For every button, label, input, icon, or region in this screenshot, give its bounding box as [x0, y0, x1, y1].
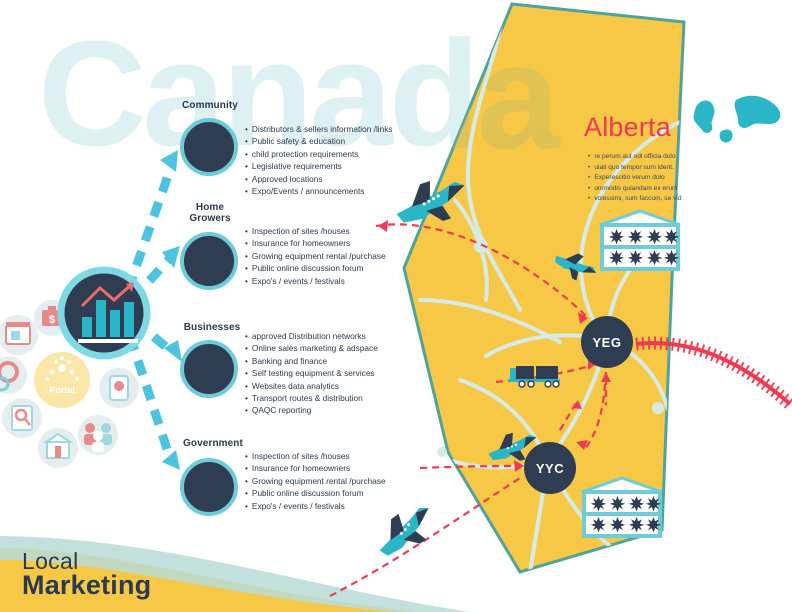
- bank-institution-icon: [38, 428, 78, 468]
- portal-badge[interactable]: [34, 352, 90, 408]
- connector-arrowheads: [160, 150, 182, 470]
- spoke-title-community: Community: [170, 100, 250, 111]
- bullet-item: child protection requirements: [245, 148, 393, 160]
- spoke-bullets-businesses: approved Distribution networks Online sa…: [245, 330, 378, 417]
- bullet-item: QAQC reporting: [245, 404, 378, 416]
- bullet-item: Expo's / events / festivals: [245, 500, 386, 512]
- spoke-title-businesses: Businesses: [170, 322, 254, 333]
- portal-label: Portal: [39, 385, 85, 395]
- footer-marketing: Marketing: [22, 570, 151, 601]
- spoke-title-home-growers: Home Growers: [170, 202, 250, 224]
- people-group-icon: [78, 415, 118, 455]
- bullet-item: approved Distribution networks: [245, 330, 378, 342]
- spoke-node-community[interactable]: [180, 118, 238, 176]
- bullet-item: Expo's / events / festivals: [245, 275, 386, 287]
- infographic-canvas: Canada Canada: [0, 0, 792, 612]
- spoke-bullets-government: Inspection of sites /houses Insurance fo…: [245, 450, 386, 512]
- bullet-item: Distributors & sellers information /link…: [245, 123, 393, 135]
- spoke-node-home-growers[interactable]: [180, 232, 238, 290]
- hub-bar-chart-trend-icon[interactable]: [61, 270, 147, 356]
- bullet-item: Approved locations: [245, 173, 393, 185]
- spoke-bullets-home-growers: Inspection of sites /houses Insurance fo…: [245, 225, 386, 287]
- bullet-item: Public safety & education: [245, 135, 393, 147]
- bullet-item: Self testing equipment & services: [245, 367, 378, 379]
- spoke-node-government[interactable]: [180, 458, 238, 516]
- svg-text:$: $: [49, 314, 55, 326]
- bullet-item: Expo/Events / announcements: [245, 185, 393, 197]
- spoke-title-line1: Home: [196, 202, 224, 213]
- bullet-item: Inspection of sites /houses: [245, 225, 386, 237]
- bullet-item: Websites data analytics: [245, 380, 378, 392]
- mobile-device-icon: [99, 368, 139, 408]
- bullet-item: Transport routes & distribution: [245, 392, 378, 404]
- document-search-icon: [2, 398, 42, 438]
- storefront-icon: [0, 315, 38, 355]
- bullet-item: Growing equipment rental /purchase: [245, 250, 386, 262]
- bullet-item: Legislative requirements: [245, 160, 393, 172]
- spoke-title-government: Government: [168, 438, 258, 449]
- gear-settings-icon: [0, 356, 27, 394]
- hub-and-connectors: $: [0, 0, 792, 612]
- bullet-item: Banking and finance: [245, 355, 378, 367]
- bullet-item: Online sales marketing & adspace: [245, 342, 378, 354]
- bullet-item: Inspection of sites /houses: [245, 450, 386, 462]
- spoke-title-line2: Growers: [189, 213, 230, 224]
- bullet-item: Insurance for homeowners: [245, 462, 386, 474]
- bullet-item: Insurance for homeowners: [245, 237, 386, 249]
- bullet-item: Public online discussion forum: [245, 487, 386, 499]
- spoke-node-businesses[interactable]: [180, 340, 238, 398]
- bullet-item: Growing equipment rental /purchase: [245, 475, 386, 487]
- bullet-item: Public online discussion forum: [245, 262, 386, 274]
- spoke-bullets-community: Distributors & sellers information /link…: [245, 123, 393, 197]
- connector-community: [128, 170, 170, 290]
